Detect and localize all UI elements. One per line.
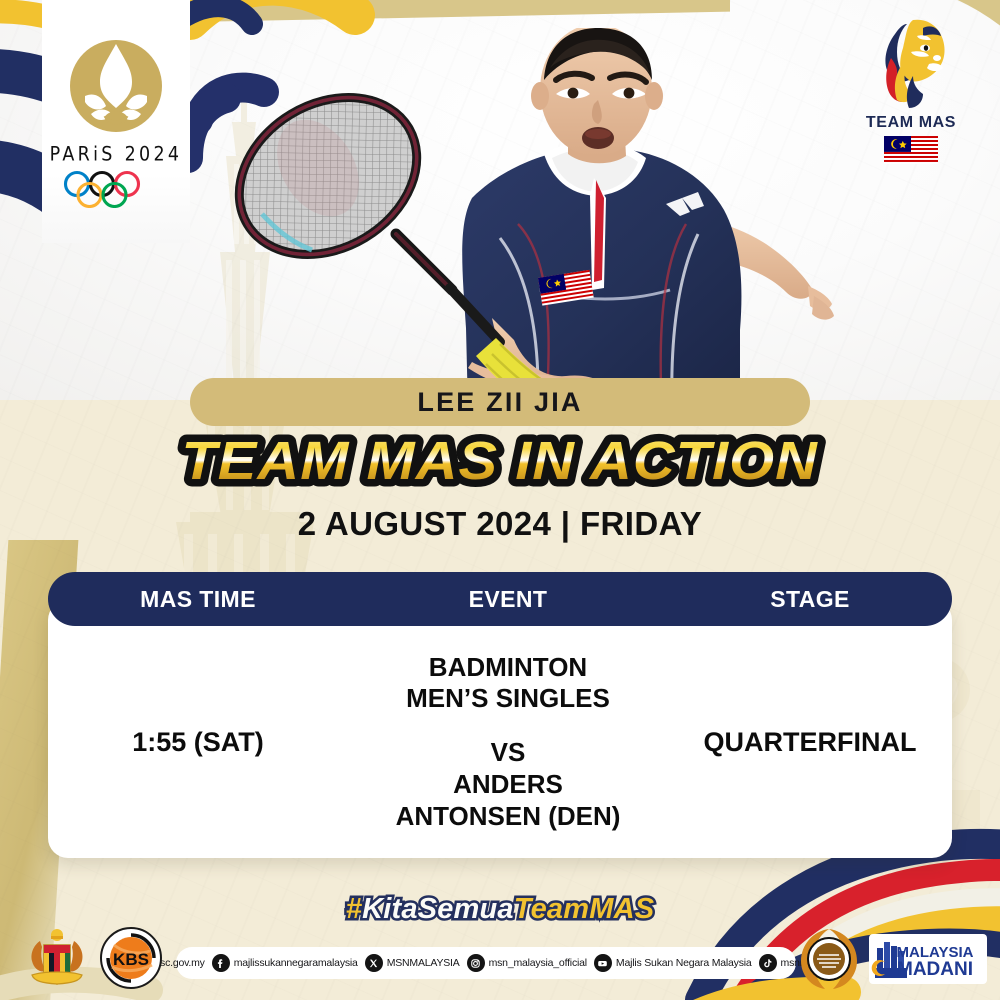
social-item-instagram[interactable]: msn_malaysia_official xyxy=(467,954,587,972)
event-date: 2 AUGUST 2024 | FRIDAY xyxy=(0,505,1000,543)
event-sport: BADMINTON xyxy=(348,652,668,684)
madani-line2: MADANI xyxy=(897,959,973,980)
jata-negara-coat-of-arms-icon xyxy=(24,925,90,991)
social-handle-x: MSNMALAYSIA xyxy=(387,957,460,969)
hashtag-teammas: TeamMAS xyxy=(514,893,655,925)
social-handle-youtube: Majlis Sukan Negara Malaysia xyxy=(616,957,752,969)
team-mas-logo: TEAM MAS xyxy=(848,14,974,164)
msn-logo-icon xyxy=(795,925,863,993)
opponent-first-name: ANDERS xyxy=(348,769,668,801)
poster-root: PARiS 2024 TEAM MAS xyxy=(0,0,1000,1000)
tiktok-icon xyxy=(759,954,777,972)
kbs-logo-icon: KBS xyxy=(100,927,162,989)
social-item-facebook[interactable]: majlissukannegaramalaysia xyxy=(212,954,358,972)
event-spacer xyxy=(348,715,668,737)
cell-stage: QUARTERFINAL xyxy=(668,727,952,758)
paris-2024-wordmark: PARiS 2024 xyxy=(50,143,183,165)
column-header-stage: STAGE xyxy=(668,586,952,613)
partner-logos-right: MALAYSIA MADANI xyxy=(795,920,990,998)
title-art: TEAM MAS IN ACTION TEAM MAS IN ACTION xyxy=(0,432,1000,494)
partner-logos-left: KBS xyxy=(24,922,174,994)
hashtag-symbol: # xyxy=(346,893,362,925)
social-item-x[interactable]: MSNMALAYSIA xyxy=(365,954,460,972)
svg-text:KBS: KBS xyxy=(113,950,149,969)
event-category: MEN’S SINGLES xyxy=(348,683,668,715)
cell-event: BADMINTON MEN’S SINGLES VS ANDERS ANTONS… xyxy=(348,652,668,833)
event-vs: VS xyxy=(348,737,668,769)
team-mas-label: TEAM MAS xyxy=(866,114,956,132)
opponent-last-name: ANTONSEN (DEN) xyxy=(348,801,668,833)
olympic-rings-icon xyxy=(58,170,174,208)
athlete-photo xyxy=(200,28,840,410)
instagram-icon xyxy=(467,954,485,972)
social-handle-facebook: majlissukannegaramalaysia xyxy=(234,957,358,969)
x-twitter-icon xyxy=(365,954,383,972)
youtube-icon xyxy=(594,954,612,972)
malaysia-madani-logo-icon: MALAYSIA MADANI xyxy=(869,930,987,988)
malaysia-flag-icon xyxy=(884,136,938,164)
paris-2024-logo-card: PARiS 2024 xyxy=(42,0,190,243)
column-header-time: MAS TIME xyxy=(48,586,348,613)
schedule-table-header: MAS TIME EVENT STAGE xyxy=(48,572,952,626)
column-header-event: EVENT xyxy=(348,586,668,613)
facebook-icon xyxy=(212,954,230,972)
athlete-name-banner: LEE ZII JIA xyxy=(190,378,810,426)
table-row: 1:55 (SAT) BADMINTON MEN’S SINGLES VS AN… xyxy=(48,626,952,858)
svg-text:TEAM MAS IN ACTION: TEAM MAS IN ACTION xyxy=(181,432,818,491)
social-handles-bar: nsc.gov.my majlissukannegaramalaysia MSN… xyxy=(176,947,796,979)
main-title: TEAM MAS IN ACTION TEAM MAS IN ACTION xyxy=(0,432,1000,494)
paris-2024-emblem-icon xyxy=(60,36,172,140)
social-item-youtube[interactable]: Majlis Sukan Negara Malaysia xyxy=(594,954,752,972)
cell-time: 1:55 (SAT) xyxy=(48,727,348,758)
tiger-head-icon xyxy=(861,14,961,112)
hashtag-kitasemua: KitaSemua xyxy=(362,893,514,925)
athlete-name: LEE ZII JIA xyxy=(417,387,582,418)
social-handle-instagram: msn_malaysia_official xyxy=(489,957,587,969)
